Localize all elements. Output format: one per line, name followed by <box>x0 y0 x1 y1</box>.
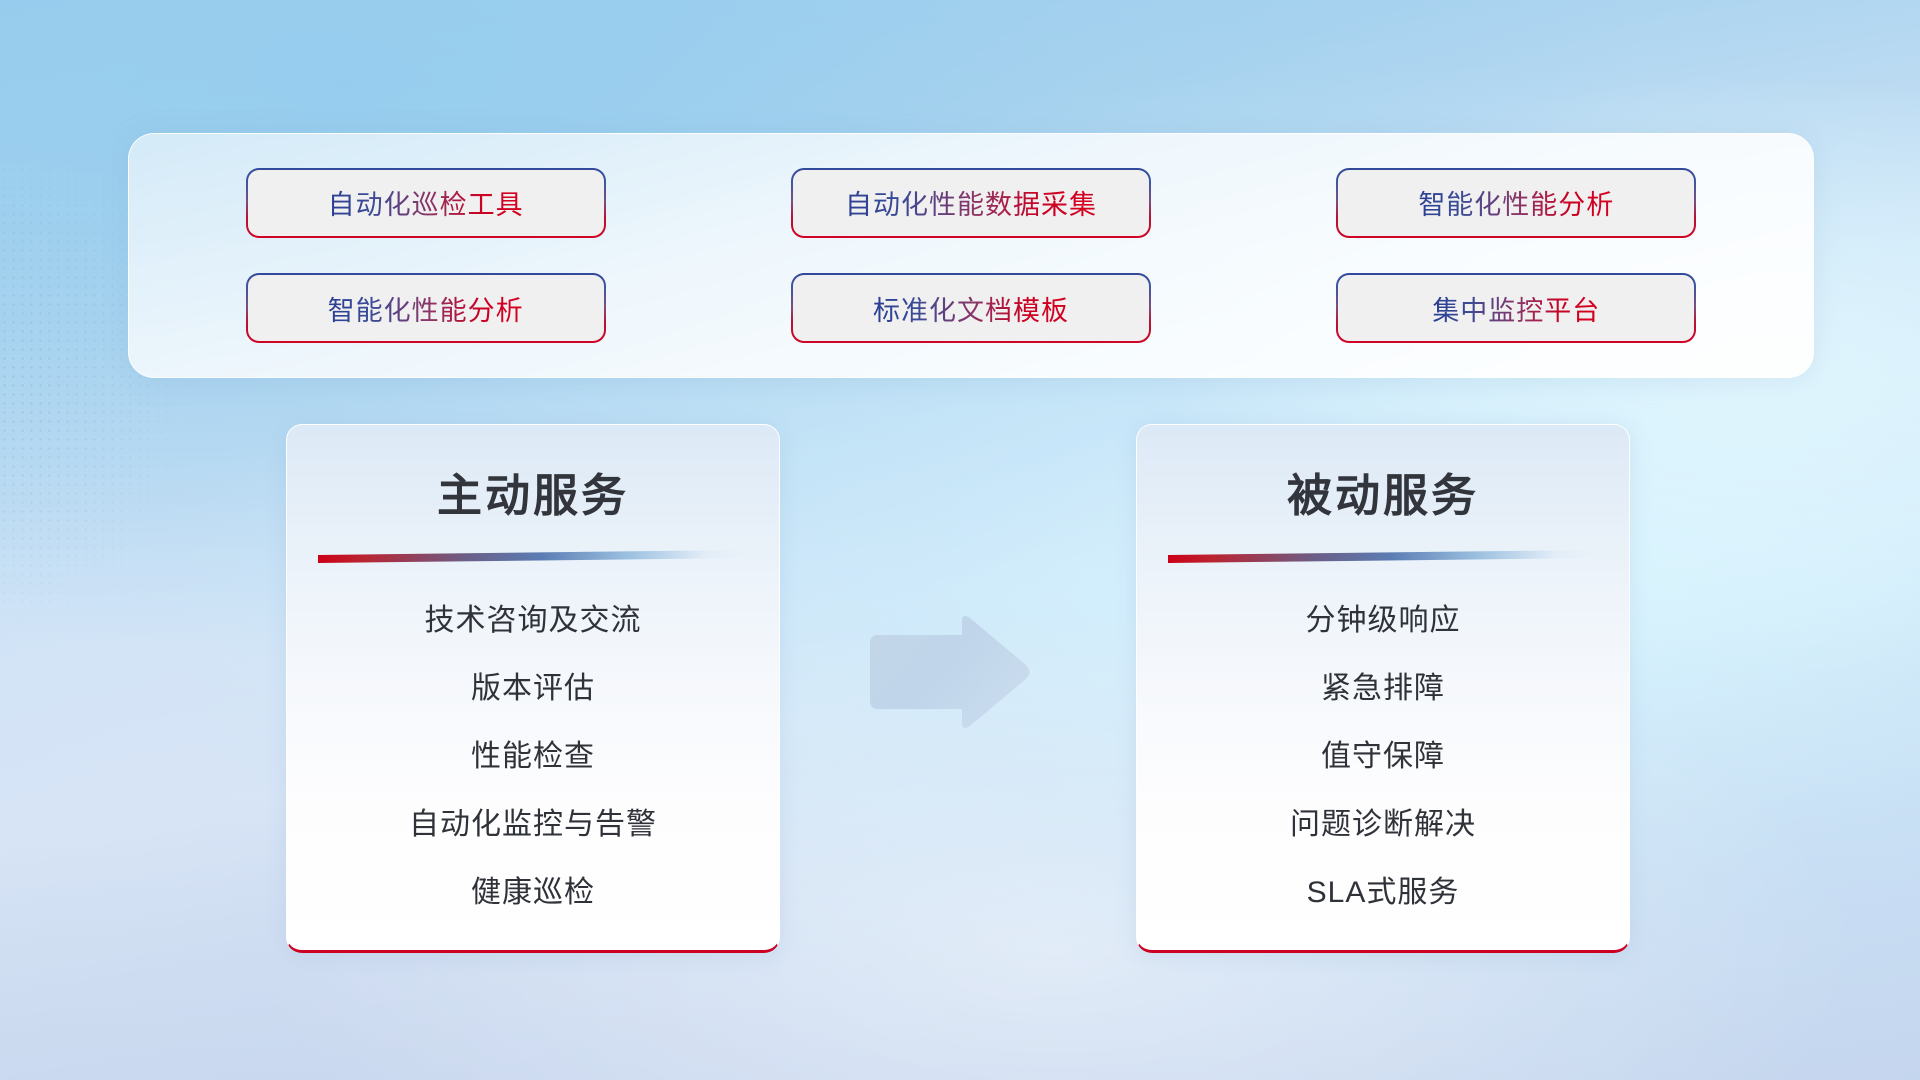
service-card-passive: 被动服务 分钟级响应 紧急排障 值守保障 问题诊断解决 SLA式服务 <box>1136 424 1630 953</box>
list-item: 值守保障 <box>1321 731 1445 775</box>
card-divider <box>1168 550 1598 563</box>
service-item-list: 分钟级响应 紧急排障 值守保障 问题诊断解决 SLA式服务 <box>1137 595 1629 911</box>
capability-tag-label: 标准化文档模板 <box>873 289 1069 328</box>
capability-tag-label: 自动化性能数据采集 <box>845 183 1097 222</box>
list-item: 健康巡检 <box>471 867 595 911</box>
capability-tag-standardized-document-template[interactable]: 标准化文档模板 <box>793 275 1149 341</box>
capability-tag-automated-performance-data-collection[interactable]: 自动化性能数据采集 <box>793 170 1149 236</box>
list-item: 性能检查 <box>471 731 595 775</box>
list-item: 技术咨询及交流 <box>425 595 642 639</box>
list-item: 自动化监控与告警 <box>409 799 657 843</box>
card-divider <box>318 550 748 563</box>
service-card-title: 主动服务 <box>287 459 779 524</box>
capability-tag-automated-inspection-tool[interactable]: 自动化巡检工具 <box>248 170 604 236</box>
capability-tag-intelligent-performance-analysis[interactable]: 智能化性能分析 <box>1338 170 1694 236</box>
capability-tag-label: 智能化性能分析 <box>328 289 524 328</box>
service-card-active: 主动服务 技术咨询及交流 版本评估 性能检查 自动化监控与告警 健康巡检 <box>286 424 780 953</box>
capability-tag-label: 集中监控平台 <box>1432 289 1600 328</box>
list-item: 问题诊断解决 <box>1290 799 1476 843</box>
list-item: 版本评估 <box>471 663 595 707</box>
capability-tag-intelligent-performance-analysis-2[interactable]: 智能化性能分析 <box>248 275 604 341</box>
capability-tag-centralized-monitoring-platform[interactable]: 集中监控平台 <box>1338 275 1694 341</box>
service-item-list: 技术咨询及交流 版本评估 性能检查 自动化监控与告警 健康巡检 <box>287 595 779 911</box>
service-card-title: 被动服务 <box>1137 459 1629 524</box>
capability-panel: 自动化巡检工具 自动化性能数据采集 智能化性能分析 智能化性能分析 标准化文档模… <box>128 133 1814 378</box>
capability-tag-label: 智能化性能分析 <box>1418 183 1614 222</box>
list-item: SLA式服务 <box>1307 867 1460 911</box>
capability-tag-label: 自动化巡检工具 <box>328 183 524 222</box>
list-item: 分钟级响应 <box>1306 595 1461 639</box>
list-item: 紧急排障 <box>1321 663 1445 707</box>
flow-arrow-right-icon <box>866 613 1032 731</box>
capability-tag-grid: 自动化巡检工具 自动化性能数据采集 智能化性能分析 智能化性能分析 标准化文档模… <box>129 134 1813 377</box>
